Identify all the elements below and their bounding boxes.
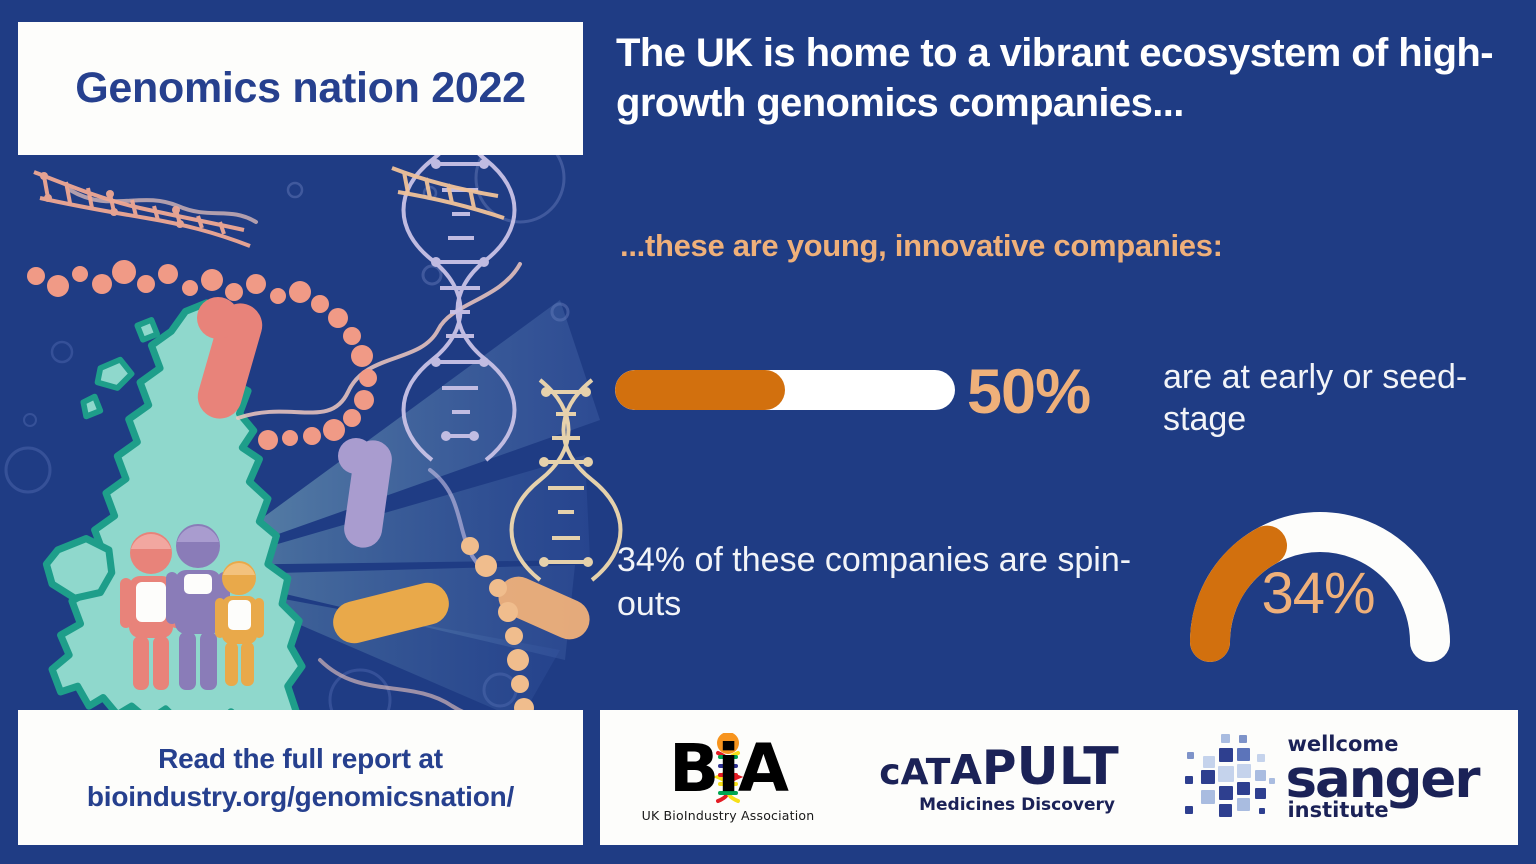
sanger-wordmark: wellcome sanger institute <box>1285 734 1478 821</box>
infographic-canvas: Genomics nation 2022 The UK is home to a… <box>0 0 1536 864</box>
stat-value-34: 34% <box>1223 560 1413 627</box>
subheading-text: ...these are young, innovative companies… <box>620 228 1500 264</box>
logo-sanger: wellcome sanger institute <box>1165 730 1495 826</box>
decorative-circles <box>6 134 568 730</box>
page-title: Genomics nation 2022 <box>75 64 525 113</box>
catapult-wordmark: cATAPULT <box>879 741 1118 793</box>
report-cta-box[interactable]: Read the full report at bioindustry.org/… <box>18 710 583 845</box>
progress-bar-track <box>615 370 955 410</box>
radiating-beams <box>205 300 600 720</box>
people-icons <box>120 524 264 690</box>
headline-text: The UK is home to a vibrant ecosystem of… <box>616 28 1496 129</box>
partner-logos-bar: BiA UK BioIndustry Association cATAPULT … <box>600 710 1518 845</box>
sanger-line-institute: institute <box>1287 800 1478 821</box>
person-figure-2 <box>166 524 230 690</box>
bia-mark: BiA <box>628 733 828 805</box>
title-plaque: Genomics nation 2022 <box>18 22 583 155</box>
person-figure-3 <box>215 561 264 686</box>
dna-helix-salmon <box>34 172 250 246</box>
stat-label-early-seed: are at early or seed-stage <box>1163 356 1493 440</box>
capsule-shapes <box>193 297 596 648</box>
person-figure-1 <box>120 532 182 690</box>
stat-label-spin-outs: 34% of these companies are spin-outs <box>617 538 1137 626</box>
cta-line-1: Read the full report at <box>158 740 443 778</box>
cta-line-2[interactable]: bioindustry.org/genomicsnation/ <box>87 778 514 816</box>
sanger-mosaic-icon <box>1181 730 1277 826</box>
stat-value-50: 50% <box>967 356 1090 428</box>
bia-wordmark: BiA <box>628 733 828 805</box>
logo-catapult: cATAPULT Medicines Discovery <box>879 741 1119 815</box>
bead-chain-salmon <box>27 260 377 450</box>
bia-caption: UK BioIndustry Association <box>642 808 815 823</box>
arc-gauge-spin-outs: 34% <box>1155 492 1485 667</box>
dna-helix-cream <box>512 380 621 580</box>
squiggle-lines <box>70 190 552 740</box>
catapult-subtitle: Medicines Discovery <box>919 795 1115 815</box>
uk-map <box>46 303 302 726</box>
stat-early-seed-stage: 50% are at early or seed-stage <box>615 360 1515 456</box>
dna-helix-peach-top <box>392 168 504 218</box>
logo-bia: BiA UK BioIndustry Association <box>623 733 833 823</box>
progress-bar-fill <box>615 370 785 410</box>
